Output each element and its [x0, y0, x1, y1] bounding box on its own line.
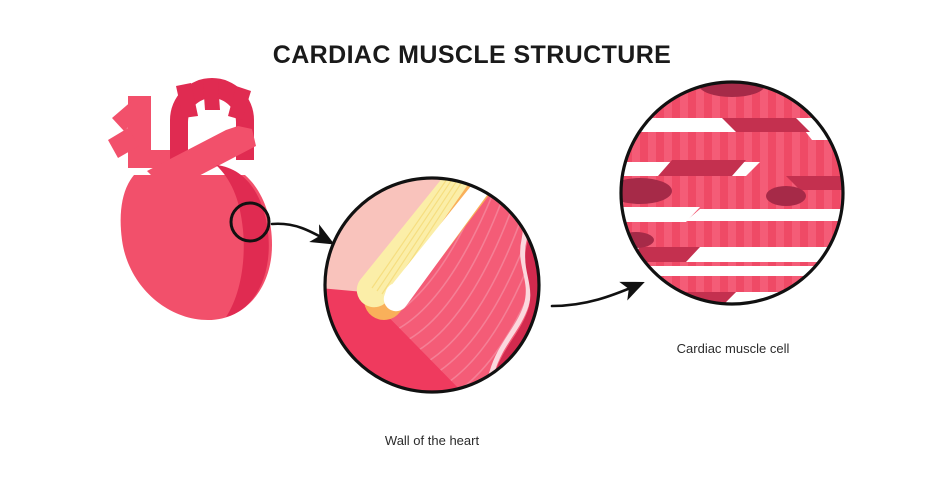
- cardiac-muscle-infographic: CARDIAC MUSCLE STRUCTURE: [0, 0, 944, 500]
- heart-organ-illustration: [108, 78, 272, 320]
- cardiac-muscle-cell-caption: Cardiac muscle cell: [642, 341, 824, 356]
- wall-of-heart-caption: Wall of the heart: [332, 433, 532, 448]
- aorta-branch-mid: [203, 82, 220, 110]
- cardiac-muscle-cell-circle[interactable]: [608, 73, 860, 309]
- arrow-heart-to-wall: [272, 224, 330, 242]
- arrow-wall-to-cell: [552, 284, 640, 306]
- illustration-canvas: [0, 0, 944, 500]
- wall-of-heart-circle[interactable]: [320, 166, 560, 410]
